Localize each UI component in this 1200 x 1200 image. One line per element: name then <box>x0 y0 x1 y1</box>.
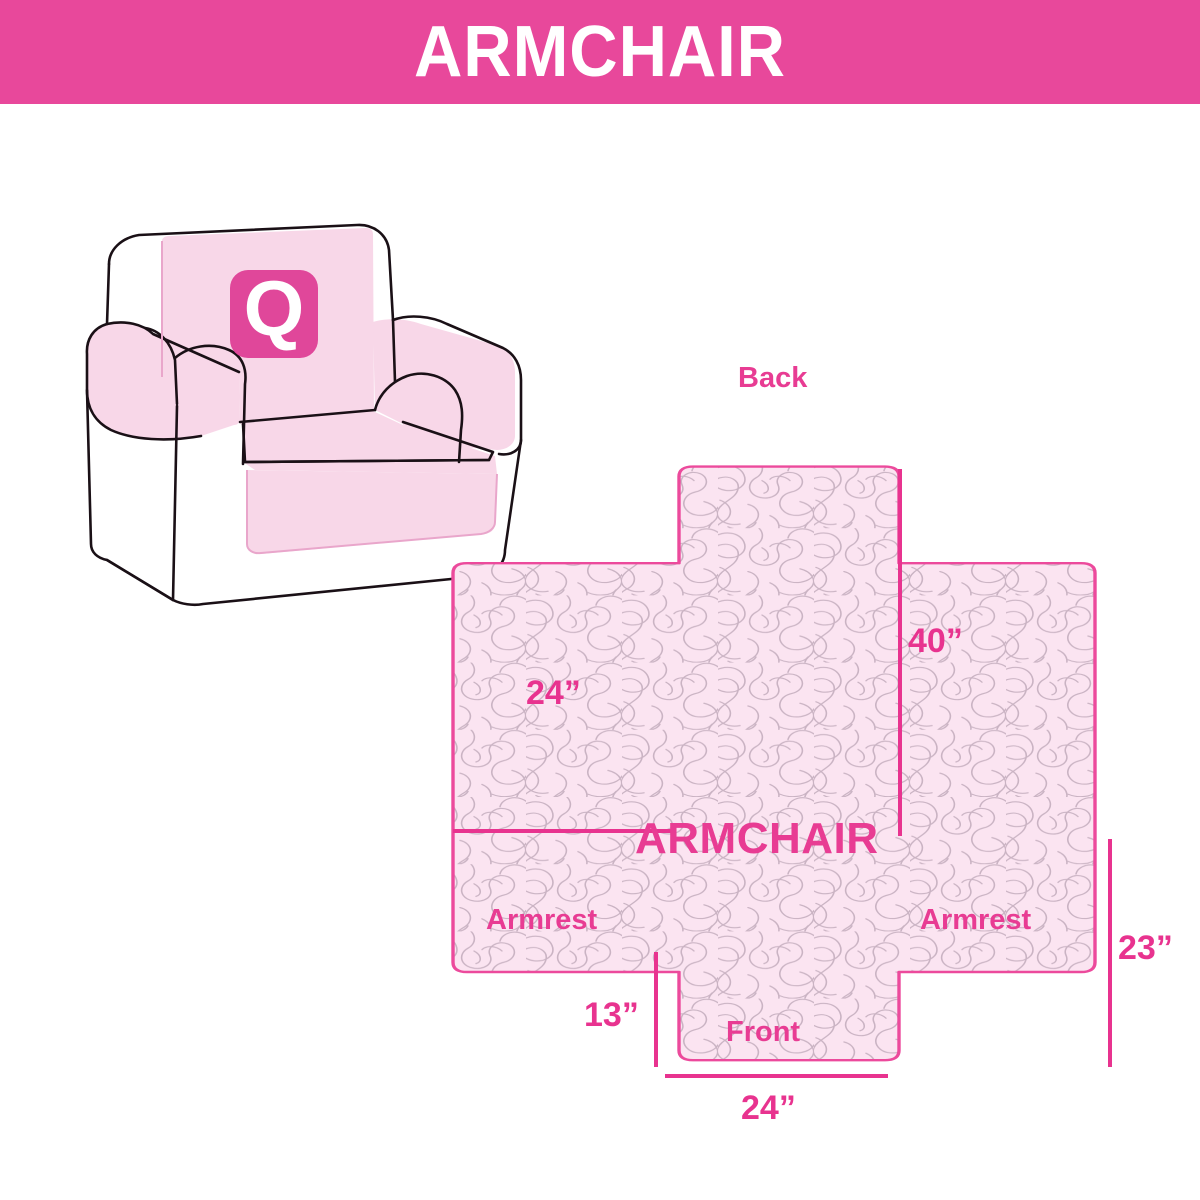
header-banner: ARMCHAIR <box>0 0 1200 104</box>
brand-badge: Q <box>230 264 318 358</box>
panel-label-back: Back <box>738 362 807 395</box>
page-title: ARMCHAIR <box>414 16 786 88</box>
dimension-label-front-height: 13” <box>584 996 639 1035</box>
dimension-label-back-height: 40” <box>908 622 963 661</box>
chair-base-left-corner <box>107 560 173 600</box>
flat-pattern-diagram: Back ARMCHAIR Armrest Armrest Front 40” … <box>430 334 1200 1144</box>
dimension-label-armrest-width: 24” <box>526 674 581 713</box>
diagram-canvas: Q <box>0 104 1200 1200</box>
panel-label-armrest-right: Armrest <box>920 904 1031 937</box>
dimension-label-seat-height: 23” <box>1118 929 1173 968</box>
flat-pattern-cross-shape <box>453 467 1095 1061</box>
badge-letter: Q <box>244 264 305 352</box>
dimension-label-front-width: 24” <box>741 1089 796 1128</box>
panel-label-armrest-left: Armrest <box>486 904 597 937</box>
panel-label-front: Front <box>726 1016 800 1049</box>
chair-back-left-edge <box>107 264 109 324</box>
panel-label-seat: ARMCHAIR <box>635 814 879 864</box>
